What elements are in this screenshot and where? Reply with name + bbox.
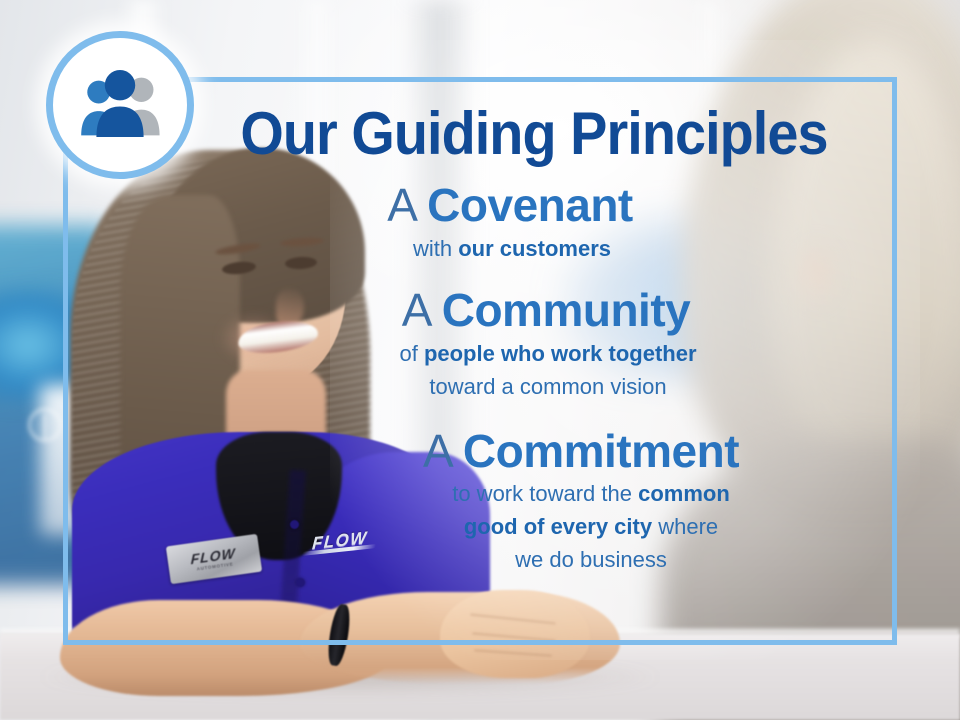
principle-item: A Commitmentto work toward the commongoo… <box>120 427 910 574</box>
principle-article: A <box>423 425 463 477</box>
principle-heading: A Covenant <box>110 181 910 230</box>
subline-emphasis: good of every city <box>464 514 652 539</box>
subline-text: to work toward the <box>452 481 638 506</box>
principle-keyword: Covenant <box>427 179 633 231</box>
subline-emphasis: common <box>638 481 730 506</box>
principle-subline: of people who work together <box>186 340 910 368</box>
principle-subline: toward a common vision <box>186 373 910 401</box>
principle-keyword: Community <box>442 284 691 336</box>
subline-emphasis: our customers <box>458 236 611 261</box>
content-text-block: Our Guiding Principles A Covenantwith ou… <box>120 80 910 640</box>
subline-emphasis: people who work together <box>424 341 697 366</box>
principle-heading: A Commitment <box>252 427 910 476</box>
principles-list: A Covenantwith our customersA Communityo… <box>120 181 910 574</box>
principle-keyword: Commitment <box>463 425 739 477</box>
principle-subline: good of every city where <box>272 513 910 541</box>
principle-heading: A Community <box>182 286 910 335</box>
subline-text: of <box>399 341 423 366</box>
subline-text: toward a common vision <box>429 374 666 399</box>
principle-item: A Covenantwith our customers <box>120 181 910 262</box>
subline-text: with <box>413 236 458 261</box>
principle-item: A Communityof people who work togetherto… <box>120 286 910 400</box>
principle-subline: we do business <box>272 546 910 574</box>
principle-article: A <box>402 284 442 336</box>
subline-text: we do business <box>515 547 667 572</box>
page-title: Our Guiding Principles <box>184 102 883 165</box>
subline-text: where <box>652 514 718 539</box>
principle-subline: to work toward the common <box>272 480 910 508</box>
principle-subline: with our customers <box>114 235 910 263</box>
principle-article: A <box>387 179 427 231</box>
